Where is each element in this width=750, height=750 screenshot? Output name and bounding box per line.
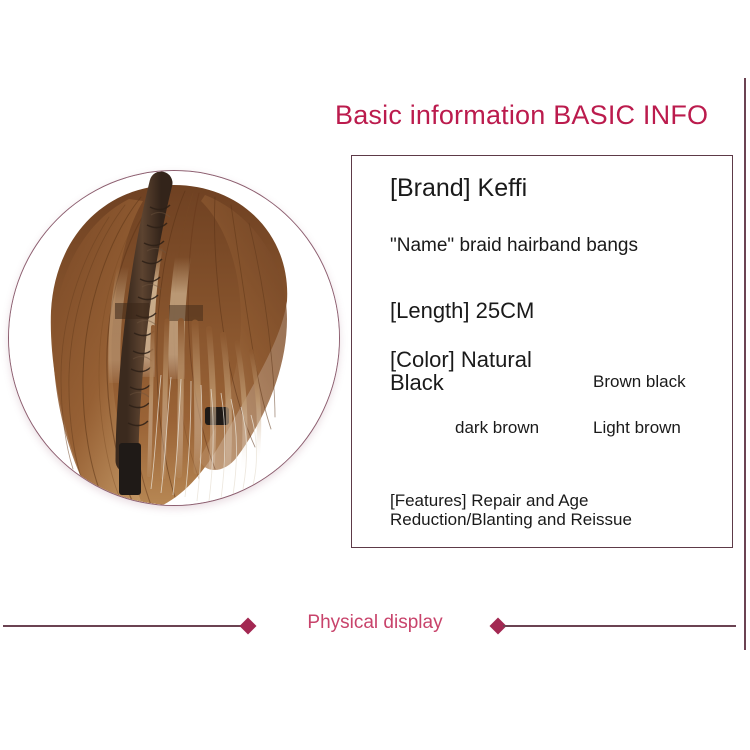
product-name-line: "Name" braid hairband bangs <box>390 235 638 257</box>
hair-base-patch-right <box>169 305 203 321</box>
hair-clip-right <box>205 407 229 425</box>
features-line: [Features] Repair and Age Reduction/Blan… <box>390 491 690 529</box>
right-accent-rule <box>744 78 746 650</box>
basic-info-content: [Brand] Keffi "Name" braid hairband bang… <box>352 156 732 547</box>
length-line: [Length] 25CM <box>390 298 534 324</box>
divider-label: Physical display <box>0 612 750 634</box>
color-option-dark-brown: dark brown <box>455 418 539 438</box>
hair-base-patch-left <box>115 303 149 319</box>
page-title: Basic information BASIC INFO <box>335 100 708 131</box>
color-option-light-brown: Light brown <box>593 418 681 438</box>
brand-line: [Brand] Keffi <box>390 174 527 203</box>
product-photo-circle <box>8 170 340 506</box>
color-line: [Color] Natural Black <box>390 348 580 394</box>
basic-info-box: [Brand] Keffi "Name" braid hairband bang… <box>351 155 733 548</box>
hair-clip-left <box>119 443 141 495</box>
color-option-brown-black: Brown black <box>593 372 686 392</box>
product-photo <box>9 171 339 505</box>
hairpiece-illustration <box>9 171 339 505</box>
